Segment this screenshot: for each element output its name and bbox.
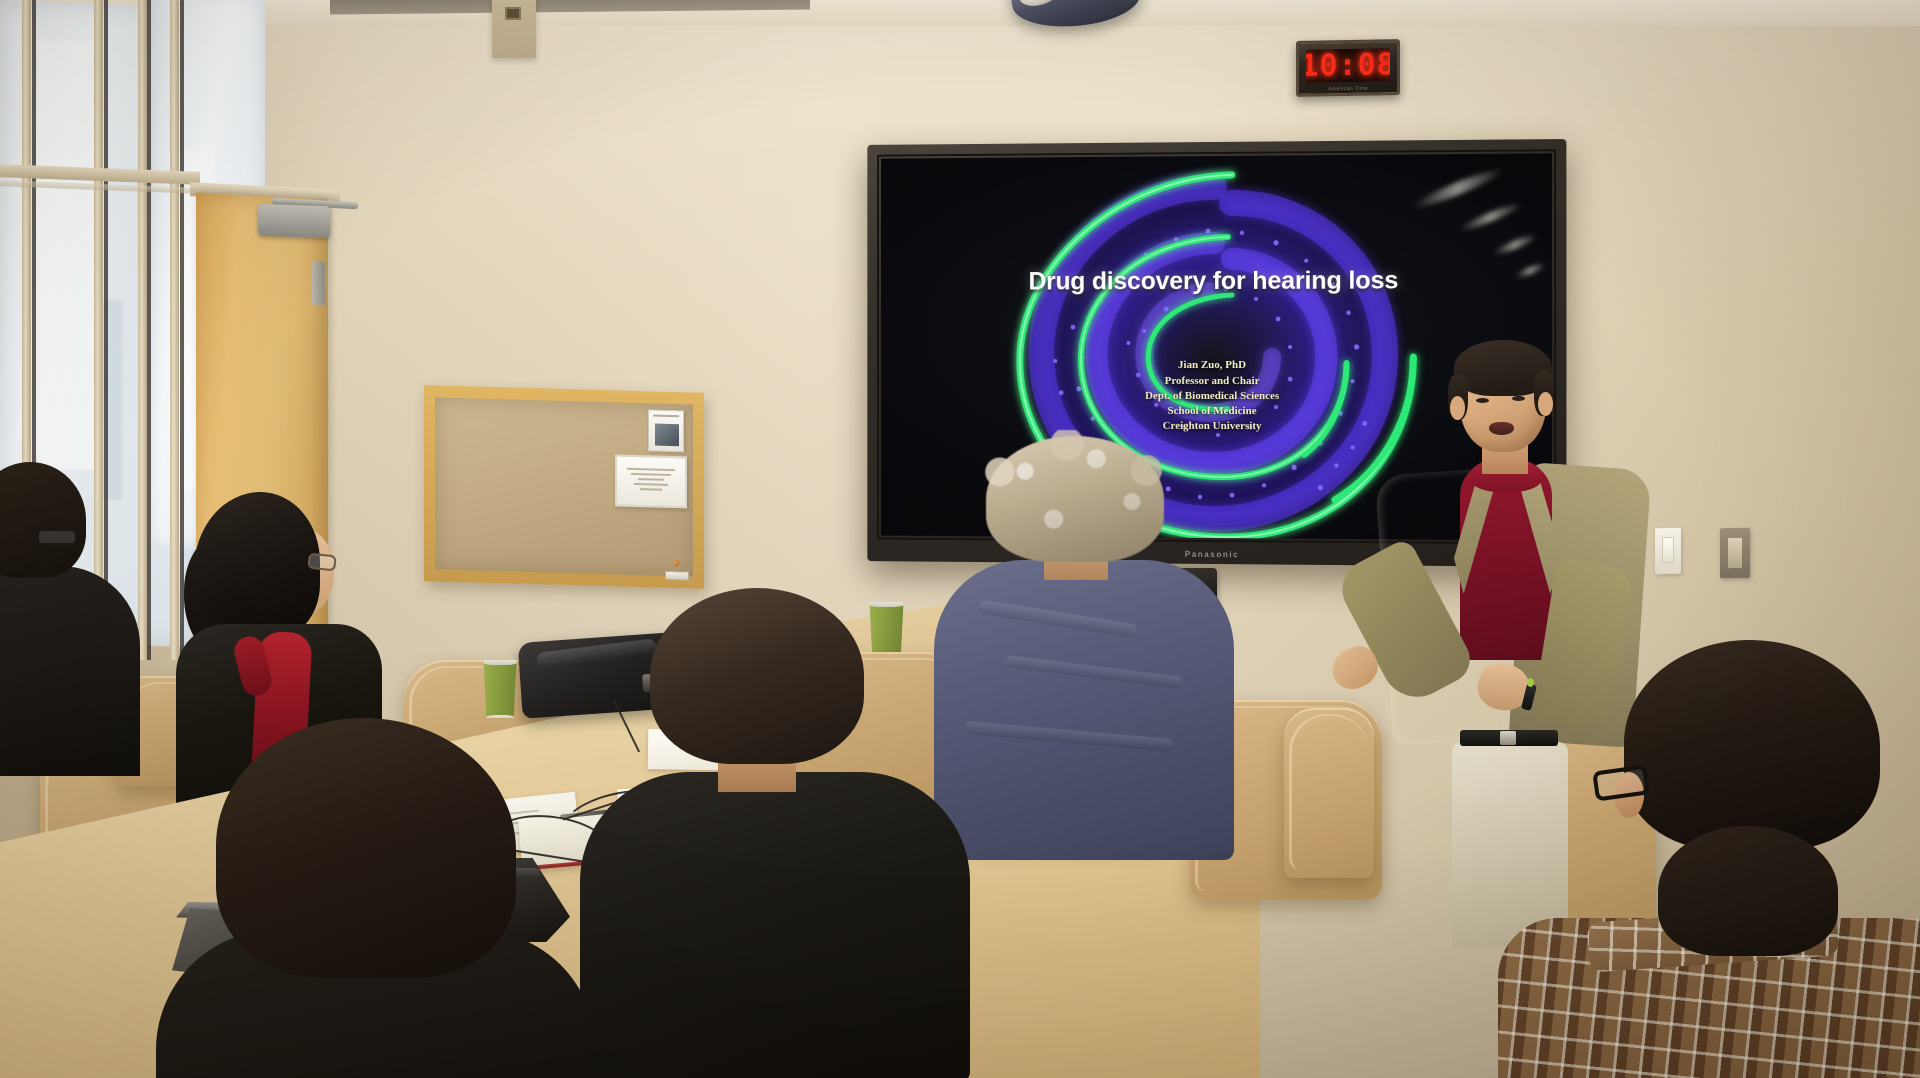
woman-glasses-icon	[307, 553, 337, 572]
door-hinge-upper	[312, 261, 325, 306]
woman-hair	[194, 492, 320, 640]
foreground-left-hair	[216, 718, 516, 978]
shirt-fold-2	[1004, 655, 1184, 689]
board-flyer-small	[648, 409, 684, 452]
board-label-tag	[665, 571, 689, 581]
bulletin-board	[424, 385, 704, 589]
notice-line-1	[627, 468, 674, 471]
presenter-ear-right	[1538, 392, 1553, 416]
far-left-body	[0, 566, 140, 776]
clock-display: 10:08	[1306, 48, 1390, 82]
presenter-belt-buckle	[1500, 731, 1516, 745]
presenter-mouth	[1489, 422, 1514, 435]
notice-line-5	[640, 488, 661, 491]
presenter-ear-left	[1450, 396, 1465, 420]
notice-line-4	[634, 483, 669, 486]
gray-hair-shirt	[934, 560, 1234, 860]
notice-line-2	[631, 473, 670, 476]
attendee-foreground-left	[216, 718, 546, 1078]
coffee-cup-left[interactable]	[482, 660, 518, 718]
clock-brand-label: American Time	[1299, 85, 1397, 93]
presenter-eye-right	[1512, 396, 1525, 401]
presenter-brow-left	[1474, 388, 1492, 392]
far-left-glasses-icon	[36, 528, 78, 546]
clock-time: 10:08	[1306, 48, 1390, 82]
door-closer-body	[258, 204, 330, 239]
pushpin-icon	[673, 560, 679, 566]
dark-hair-head	[650, 588, 864, 764]
presenter-eye-left	[1476, 398, 1489, 403]
chair-near-5[interactable]	[1284, 708, 1374, 878]
plaid-attendee-head	[1658, 826, 1838, 956]
light-switch-plate[interactable]	[1655, 528, 1681, 574]
corkboard-surface	[435, 397, 693, 576]
shirt-fold-3	[964, 721, 1174, 752]
attendee-plaid	[1528, 848, 1920, 1078]
conference-room-scene: 10:08 American Time	[0, 0, 1920, 1078]
digital-wall-clock: 10:08 American Time	[1296, 39, 1400, 97]
light-switch-toggle[interactable]	[1662, 537, 1674, 563]
notice-line-3	[638, 478, 664, 481]
attendee-gray-hair-center	[952, 436, 1242, 856]
flyer-photo	[655, 424, 679, 447]
attendee-far-left	[0, 462, 124, 762]
av-plate-port[interactable]	[1728, 538, 1742, 568]
dark-hair-shirt	[580, 772, 970, 1078]
presenter-brow-right	[1510, 386, 1528, 390]
slide-title: Drug discovery for hearing loss	[881, 266, 1552, 297]
right-attendee-hair	[1624, 640, 1880, 850]
projector-lens-icon	[1017, 0, 1061, 10]
far-left-hair	[0, 462, 86, 578]
glass-reflection-1	[36, 40, 96, 470]
speaker-grille-icon	[505, 7, 521, 20]
wall-speaker	[492, 0, 536, 58]
gray-curly-hair	[986, 436, 1164, 562]
shirt-fold-1	[978, 600, 1138, 639]
flyer-header-line	[653, 414, 679, 417]
attendee-dark-hair-center	[610, 588, 940, 1078]
clicker-led-icon	[1527, 678, 1534, 687]
mullion-vertical-3	[138, 0, 147, 660]
av-wall-plate[interactable]	[1720, 528, 1750, 579]
board-notice	[615, 454, 687, 508]
mullion-gasket-3	[147, 0, 151, 660]
